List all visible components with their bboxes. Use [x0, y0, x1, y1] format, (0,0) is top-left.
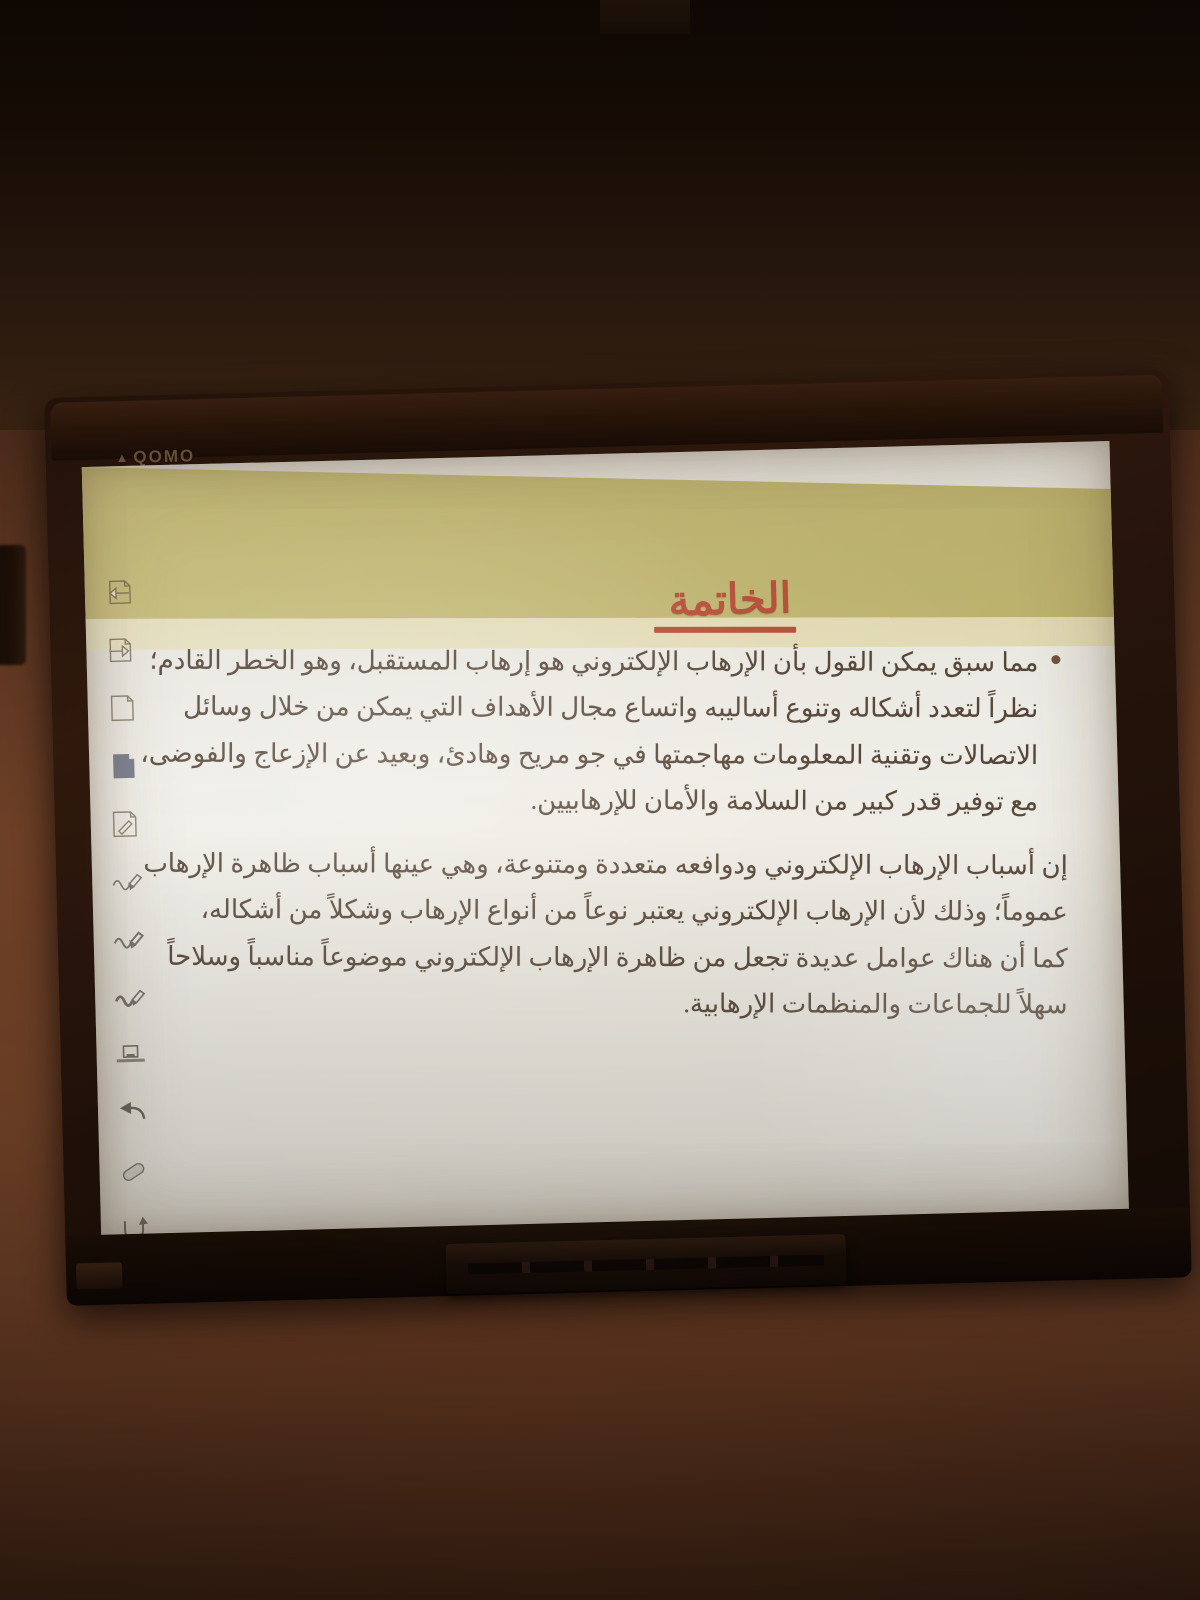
slide-body: مما سبق يمكن القول بأن الإرهاب الإلكترون…: [137, 638, 1068, 1045]
pen-thick-icon[interactable]: [107, 975, 152, 1020]
brand-triangle-icon: ▲: [115, 450, 130, 465]
whiteboard-left-clip: [76, 1262, 123, 1289]
blank-page-icon[interactable]: [99, 686, 144, 731]
slide-line: كما أن هناك عوامل عديدة تجعل من ظاهرة ال…: [138, 933, 1068, 982]
pen-tray[interactable]: [446, 1234, 847, 1294]
wall-ceiling-marking: [600, 0, 690, 34]
slide-bullet-item: مما سبق يمكن القول بأن الإرهاب الإلكترون…: [138, 638, 1068, 825]
filled-page-icon[interactable]: [101, 744, 146, 789]
slide-line: نظراً لتعدد أشكاله وتنوع أساليبه واتساع …: [138, 684, 1038, 733]
redo-icon[interactable]: [113, 1207, 158, 1236]
slide-line: مما سبق يمكن القول بأن الإرهاب الإلكترون…: [138, 638, 1038, 687]
desktop-icon[interactable]: [108, 1033, 153, 1078]
slide-line: مع توفير قدر كبير من السلامة والأمان للإ…: [138, 777, 1038, 826]
slide-line: الاتصالات وتقنية المعلومات مهاجمتها في ج…: [138, 730, 1038, 779]
wall-left-dark-object: [0, 545, 26, 665]
pen-medium-icon[interactable]: [105, 918, 150, 963]
slide-line: عموماً؛ وذلك لأن الإرهاب الإلكتروني يعتب…: [138, 887, 1068, 936]
next-page-icon[interactable]: [98, 628, 143, 673]
wall-upper-shadow: [0, 0, 1200, 430]
slide-title-underline: [654, 627, 796, 633]
pen-thin-icon[interactable]: [104, 860, 149, 905]
slide-line: سهلاً للجماعات والمنظمات الإرهابية.: [137, 980, 1067, 1029]
previous-page-icon[interactable]: [96, 570, 141, 615]
annotate-page-icon[interactable]: [102, 802, 147, 847]
pen-tray-slots: [468, 1255, 824, 1275]
interactive-whiteboard[interactable]: ▲QOMO INTERACTIVE الخاتمة مما سبق يمكن ا…: [44, 369, 1198, 1347]
slide-paragraph-2: إن أسباب الإرهاب الإلكتروني ودوافعه متعد…: [137, 841, 1067, 1028]
slide-line: إن أسباب الإرهاب الإلكتروني ودوافعه متعد…: [138, 841, 1068, 890]
slide-title: الخاتمة: [668, 573, 792, 626]
undo-icon[interactable]: [110, 1091, 155, 1136]
eraser-icon[interactable]: [111, 1149, 156, 1194]
projected-slide-surface[interactable]: الخاتمة مما سبق يمكن القول بأن الإرهاب ا…: [82, 441, 1129, 1237]
slide-paragraph-1: مما سبق يمكن القول بأن الإرهاب الإلكترون…: [138, 638, 1068, 825]
